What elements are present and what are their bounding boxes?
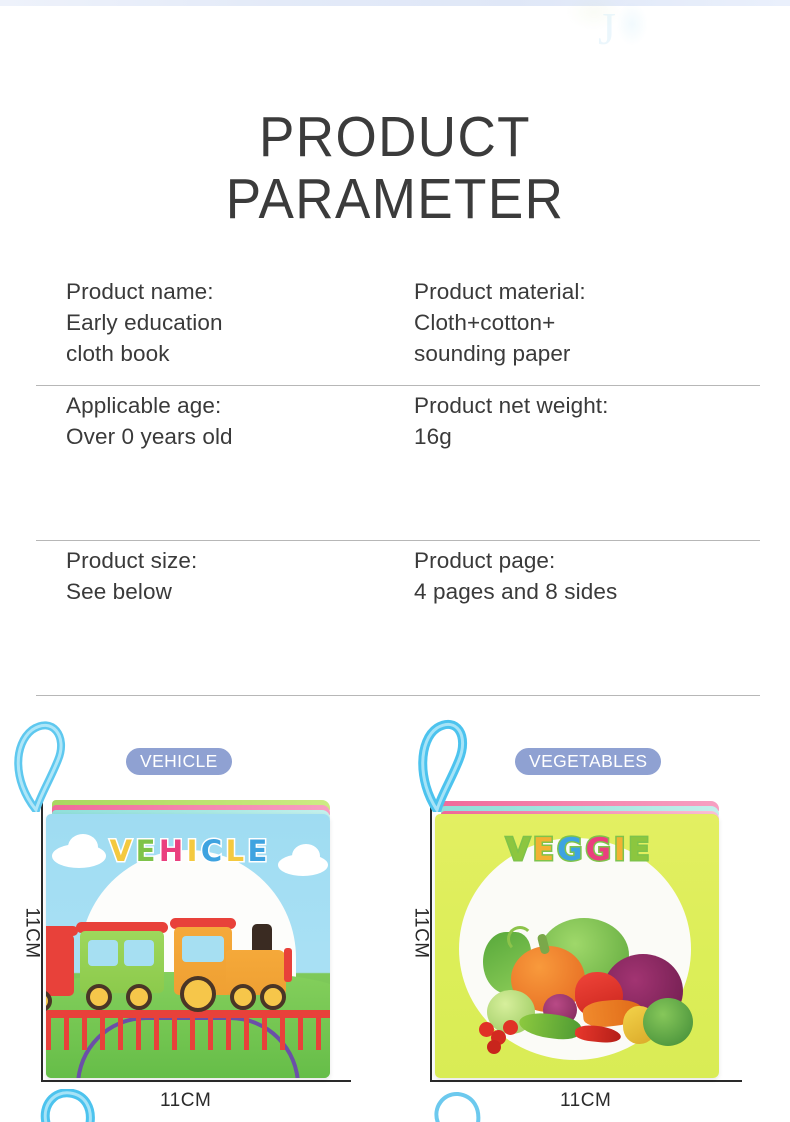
product-badge-vehicle: VEHICLE [126, 748, 232, 775]
cherry-tomato [487, 1040, 501, 1054]
parameter-value-line-2: cloth book [66, 338, 380, 369]
parameter-label: Product size: [66, 545, 380, 576]
table-row: Product size: See below Product page: 4 … [36, 541, 760, 696]
cherry-tomato [503, 1020, 518, 1035]
parameter-cell-product-name: Product name: Early education cloth book [36, 272, 380, 385]
cover-title-letter: I [614, 834, 624, 866]
parameter-value-line-1: Early education [66, 307, 380, 338]
cover-title-vehicle: V E H I C L E [46, 836, 330, 866]
cover-title-letter: E [136, 836, 155, 866]
parameter-value-line-1: Cloth+cotton+ [414, 307, 760, 338]
page-title-line-1: PRODUCT [28, 106, 763, 168]
parameter-cell-net-weight: Product net weight: 16g [380, 386, 760, 540]
watermark-letter: J [598, 2, 616, 55]
parameter-label: Product name: [66, 276, 380, 307]
cloth-book-vehicle: V E H I C L E [46, 802, 334, 1078]
parameter-value-line-1: 4 pages and 8 sides [414, 576, 760, 607]
book-handle-ribbon [6, 720, 84, 812]
page-title: PRODUCT PARAMETER [0, 106, 790, 230]
cover-title-letter: G [557, 834, 581, 866]
parameter-label: Product net weight: [414, 390, 760, 421]
railway-track [46, 1010, 330, 1018]
watermark-ghost-image [556, 0, 676, 58]
cover-title-letter: I [187, 836, 197, 866]
cover-title-letter: V [110, 836, 131, 866]
cover-title-letter: C [201, 836, 221, 866]
product-badge-vegetables: VEGETABLES [515, 748, 661, 775]
table-row: Product name: Early education cloth book… [36, 272, 760, 386]
parameter-value-line-1: Over 0 years old [66, 421, 380, 452]
parameter-label: Product page: [414, 545, 760, 576]
dimension-label-width: 11CM [560, 1090, 611, 1112]
product-parameter-page: J PRODUCT PARAMETER Product name: Early … [0, 0, 790, 1122]
page-title-line-2: PARAMETER [28, 168, 763, 230]
cover-title-letter: G [585, 834, 609, 866]
vine-tendril [507, 926, 533, 952]
product-figure-vehicle: VEHICLE 11CM 11CM [0, 712, 395, 1122]
parameter-cell-applicable-age: Applicable age: Over 0 years old [36, 386, 380, 540]
parameter-table: Product name: Early education cloth book… [36, 272, 760, 696]
book-handle-ribbon-bottom [40, 1089, 100, 1122]
dimension-label-height: 11CM [410, 907, 432, 958]
parameter-cell-product-size: Product size: See below [36, 541, 380, 695]
cover-title-letter: E [248, 836, 267, 866]
table-row: Applicable age: Over 0 years old Product… [36, 386, 760, 541]
cover-title-letter: E [533, 834, 553, 866]
dimension-label-width: 11CM [160, 1090, 211, 1112]
book-cover-vehicle: V E H I C L E [46, 814, 330, 1078]
parameter-cell-product-material: Product material: Cloth+cotton+ sounding… [380, 272, 760, 385]
parameter-label: Applicable age: [66, 390, 380, 421]
book-handle-ribbon [409, 718, 483, 812]
book-handle-ribbon-bottom [430, 1091, 486, 1122]
parameter-value-line-1: 16g [414, 421, 760, 452]
product-figure-vegetables: VEGETABLES 11CM 11CM V E [395, 712, 790, 1122]
parameter-value-line-2: sounding paper [414, 338, 760, 369]
cover-title-letter: L [226, 836, 243, 866]
product-photo-section: VEHICLE 11CM 11CM [0, 712, 790, 1122]
cover-title-letter: E [628, 834, 648, 866]
railway-ties [46, 1018, 330, 1050]
cover-title-letter: V [506, 834, 529, 866]
cover-title-veggie: V E G G I E [435, 834, 719, 866]
broccoli-vegetable [643, 998, 693, 1046]
parameter-cell-product-page: Product page: 4 pages and 8 sides [380, 541, 760, 695]
dimension-label-height: 11CM [21, 907, 43, 958]
parameter-value-line-1: See below [66, 576, 380, 607]
parameter-label: Product material: [414, 276, 760, 307]
book-cover-vegetables: V E G G I E [435, 814, 719, 1078]
top-accent-strip [0, 0, 790, 6]
cloth-book-vegetables: V E G G I E [435, 802, 723, 1078]
cover-title-letter: H [159, 836, 182, 866]
